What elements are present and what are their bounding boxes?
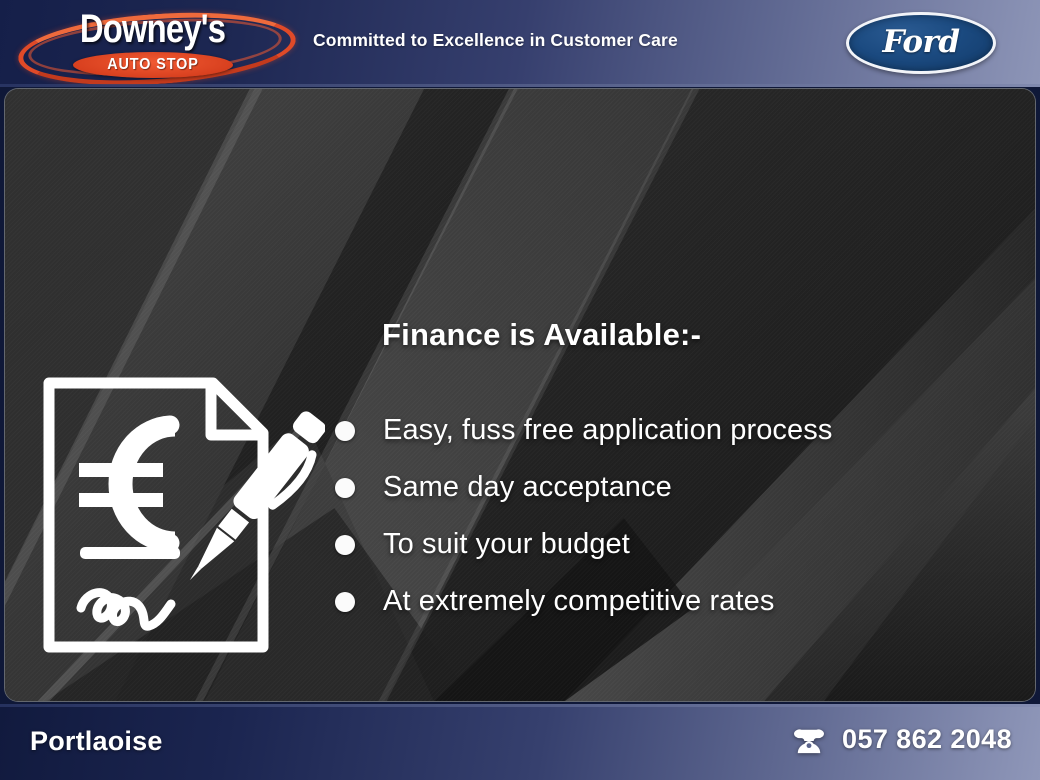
header-bar: Downey's AUTO STOP Committed to Excellen… [0, 0, 1040, 87]
contact-block[interactable]: 057 862 2048 [790, 724, 1012, 755]
bullet-dot-icon [335, 535, 355, 555]
list-item: Same day acceptance [332, 459, 1032, 516]
advertisement-banner: Downey's AUTO STOP Committed to Excellen… [0, 0, 1040, 780]
list-item-label: To suit your budget [383, 528, 630, 561]
main-panel: Finance is Available:- Easy, fuss free a… [4, 88, 1036, 702]
header-tagline: Committed to Excellence in Customer Care [313, 30, 678, 51]
list-item: At extremely competitive rates [332, 573, 1032, 630]
page-title: Finance is Available:- [382, 317, 701, 353]
list-item: Easy, fuss free application process [332, 402, 1032, 459]
logo-sub-name: AUTO STOP [81, 52, 225, 78]
logo-sub-ellipse-icon: AUTO STOP [73, 52, 233, 78]
list-item-label: Easy, fuss free application process [383, 414, 832, 447]
logo-brand-name: Downey's [36, 6, 270, 52]
bullet-dot-icon [335, 421, 355, 441]
ford-logo[interactable]: Ford [846, 12, 996, 74]
list-item-label: Same day acceptance [383, 471, 672, 504]
euro-document-signature-pen-icon [35, 365, 325, 665]
bullet-dot-icon [335, 478, 355, 498]
benefits-list: Easy, fuss free application process Same… [332, 402, 1032, 630]
list-item: To suit your budget [332, 516, 1032, 573]
bullet-dot-icon [335, 592, 355, 612]
downeys-logo[interactable]: Downey's AUTO STOP [10, 4, 295, 84]
location-label: Portlaoise [30, 726, 163, 757]
phone-number: 057 862 2048 [842, 724, 1012, 755]
ford-wordmark: Ford [846, 12, 996, 74]
footer-bar: Portlaoise 057 862 2048 [0, 704, 1040, 780]
list-item-label: At extremely competitive rates [383, 585, 774, 618]
telephone-icon [790, 725, 828, 755]
